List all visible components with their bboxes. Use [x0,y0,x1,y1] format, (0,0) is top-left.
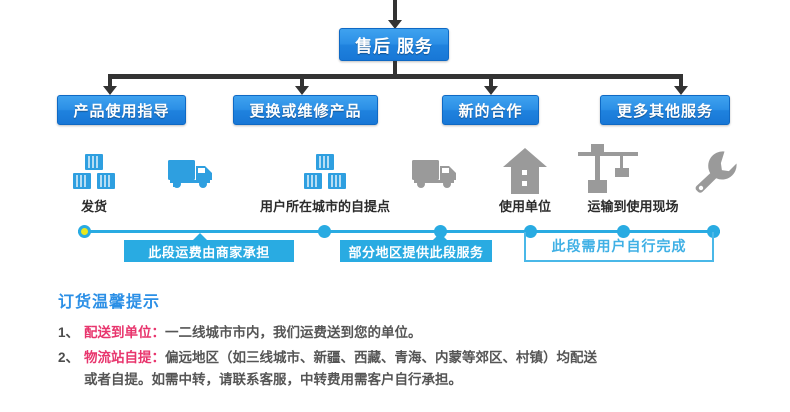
order-tip-body: 偏远地区（如三线城市、新疆、西藏、青海、内蒙等郊区、村镇）均配送 [165,350,597,365]
leaf-node-new-cooperation[interactable]: 新的合作 [442,95,539,125]
timeline-tag-user-completes[interactable]: 此段需用户自行完成 [524,232,714,262]
order-tips-section: 订货温馨提示 1、 配送到单位：一二线城市市内，我们运费送到您的单位。 2、 物… [58,288,758,391]
order-tip-key: 配送到单位： [84,325,165,340]
tag-notch-icon [192,233,208,241]
timeline-tag-merchant-pays[interactable]: 此段运费由商家承担 [124,240,294,262]
root-node-after-sales-service[interactable]: 售后 服务 [339,28,449,61]
arrow-into-leaf-1 [103,86,117,95]
order-tip-number: 1、 [58,322,84,344]
stage-label-pickup-point: 用户所在城市的自提点 [245,196,405,215]
timeline-tag-partial-region[interactable]: 部分地区提供此段服务 [340,240,492,262]
order-tip-number: 2、 [58,347,84,369]
stage-label-using-unit: 使用单位 [490,196,560,215]
connector-horizontal-bus [108,74,683,79]
leaf-node-product-usage-guide[interactable]: 产品使用指导 [57,95,186,125]
house-icon [503,148,547,194]
order-tip-continuation: 或者自提。如需中转，请联系客服，中转费用需客户自行承担。 [84,369,758,391]
crane-icon [578,144,640,194]
order-tip-key: 物流站自提： [84,350,165,365]
leaf-node-more-services[interactable]: 更多其他服务 [600,95,730,125]
timeline-dot-1[interactable] [78,225,91,238]
order-tip-item: 1、 配送到单位：一二线城市市内，我们运费送到您的单位。 [58,322,758,344]
root-node-label: 售后 服务 [355,32,433,57]
leaf-node-label-4: 更多其他服务 [617,100,713,121]
leaf-node-label-2: 更换或维修产品 [249,100,361,121]
after-sales-service-infographic: 售后 服务 产品使用指导 更换或维修产品 新的合作 更多其他服务 [0,0,790,412]
containers-icon [303,152,347,192]
leaf-node-label-1: 产品使用指导 [73,100,169,121]
timeline-tag-label-2: 部分地区提供此段服务 [348,242,483,261]
leaf-node-label-3: 新的合作 [458,100,522,121]
tag-notch-icon [432,233,448,241]
stage-label-transport-to-site: 运输到使用现场 [571,196,695,215]
timeline-dot-2[interactable] [318,225,331,238]
order-tip-item: 2、 物流站自提：偏远地区（如三线城市、新疆、西藏、青海、内蒙等郊区、村镇）均配… [58,347,758,369]
timeline-tag-label-1: 此段运费由商家承担 [148,242,270,261]
arrow-into-leaf-3 [484,86,498,95]
containers-icon [72,152,116,192]
order-tips-title: 订货温馨提示 [58,288,758,312]
truck-icon [412,156,460,190]
arrow-into-leaf-4 [674,86,688,95]
connector-stem-top [393,0,397,22]
wrench-icon [694,150,738,194]
timeline-tag-label-3: 此段需用户自行完成 [526,236,712,256]
connector-stem-bottom [393,61,397,75]
order-tip-body: 一二线城市市内，我们运费送到您的单位。 [165,325,422,340]
leaf-node-replace-or-repair[interactable]: 更换或维修产品 [233,95,378,125]
arrow-into-leaf-2 [295,86,309,95]
stage-label-shipping: 发货 [60,196,128,215]
truck-icon [168,156,216,190]
